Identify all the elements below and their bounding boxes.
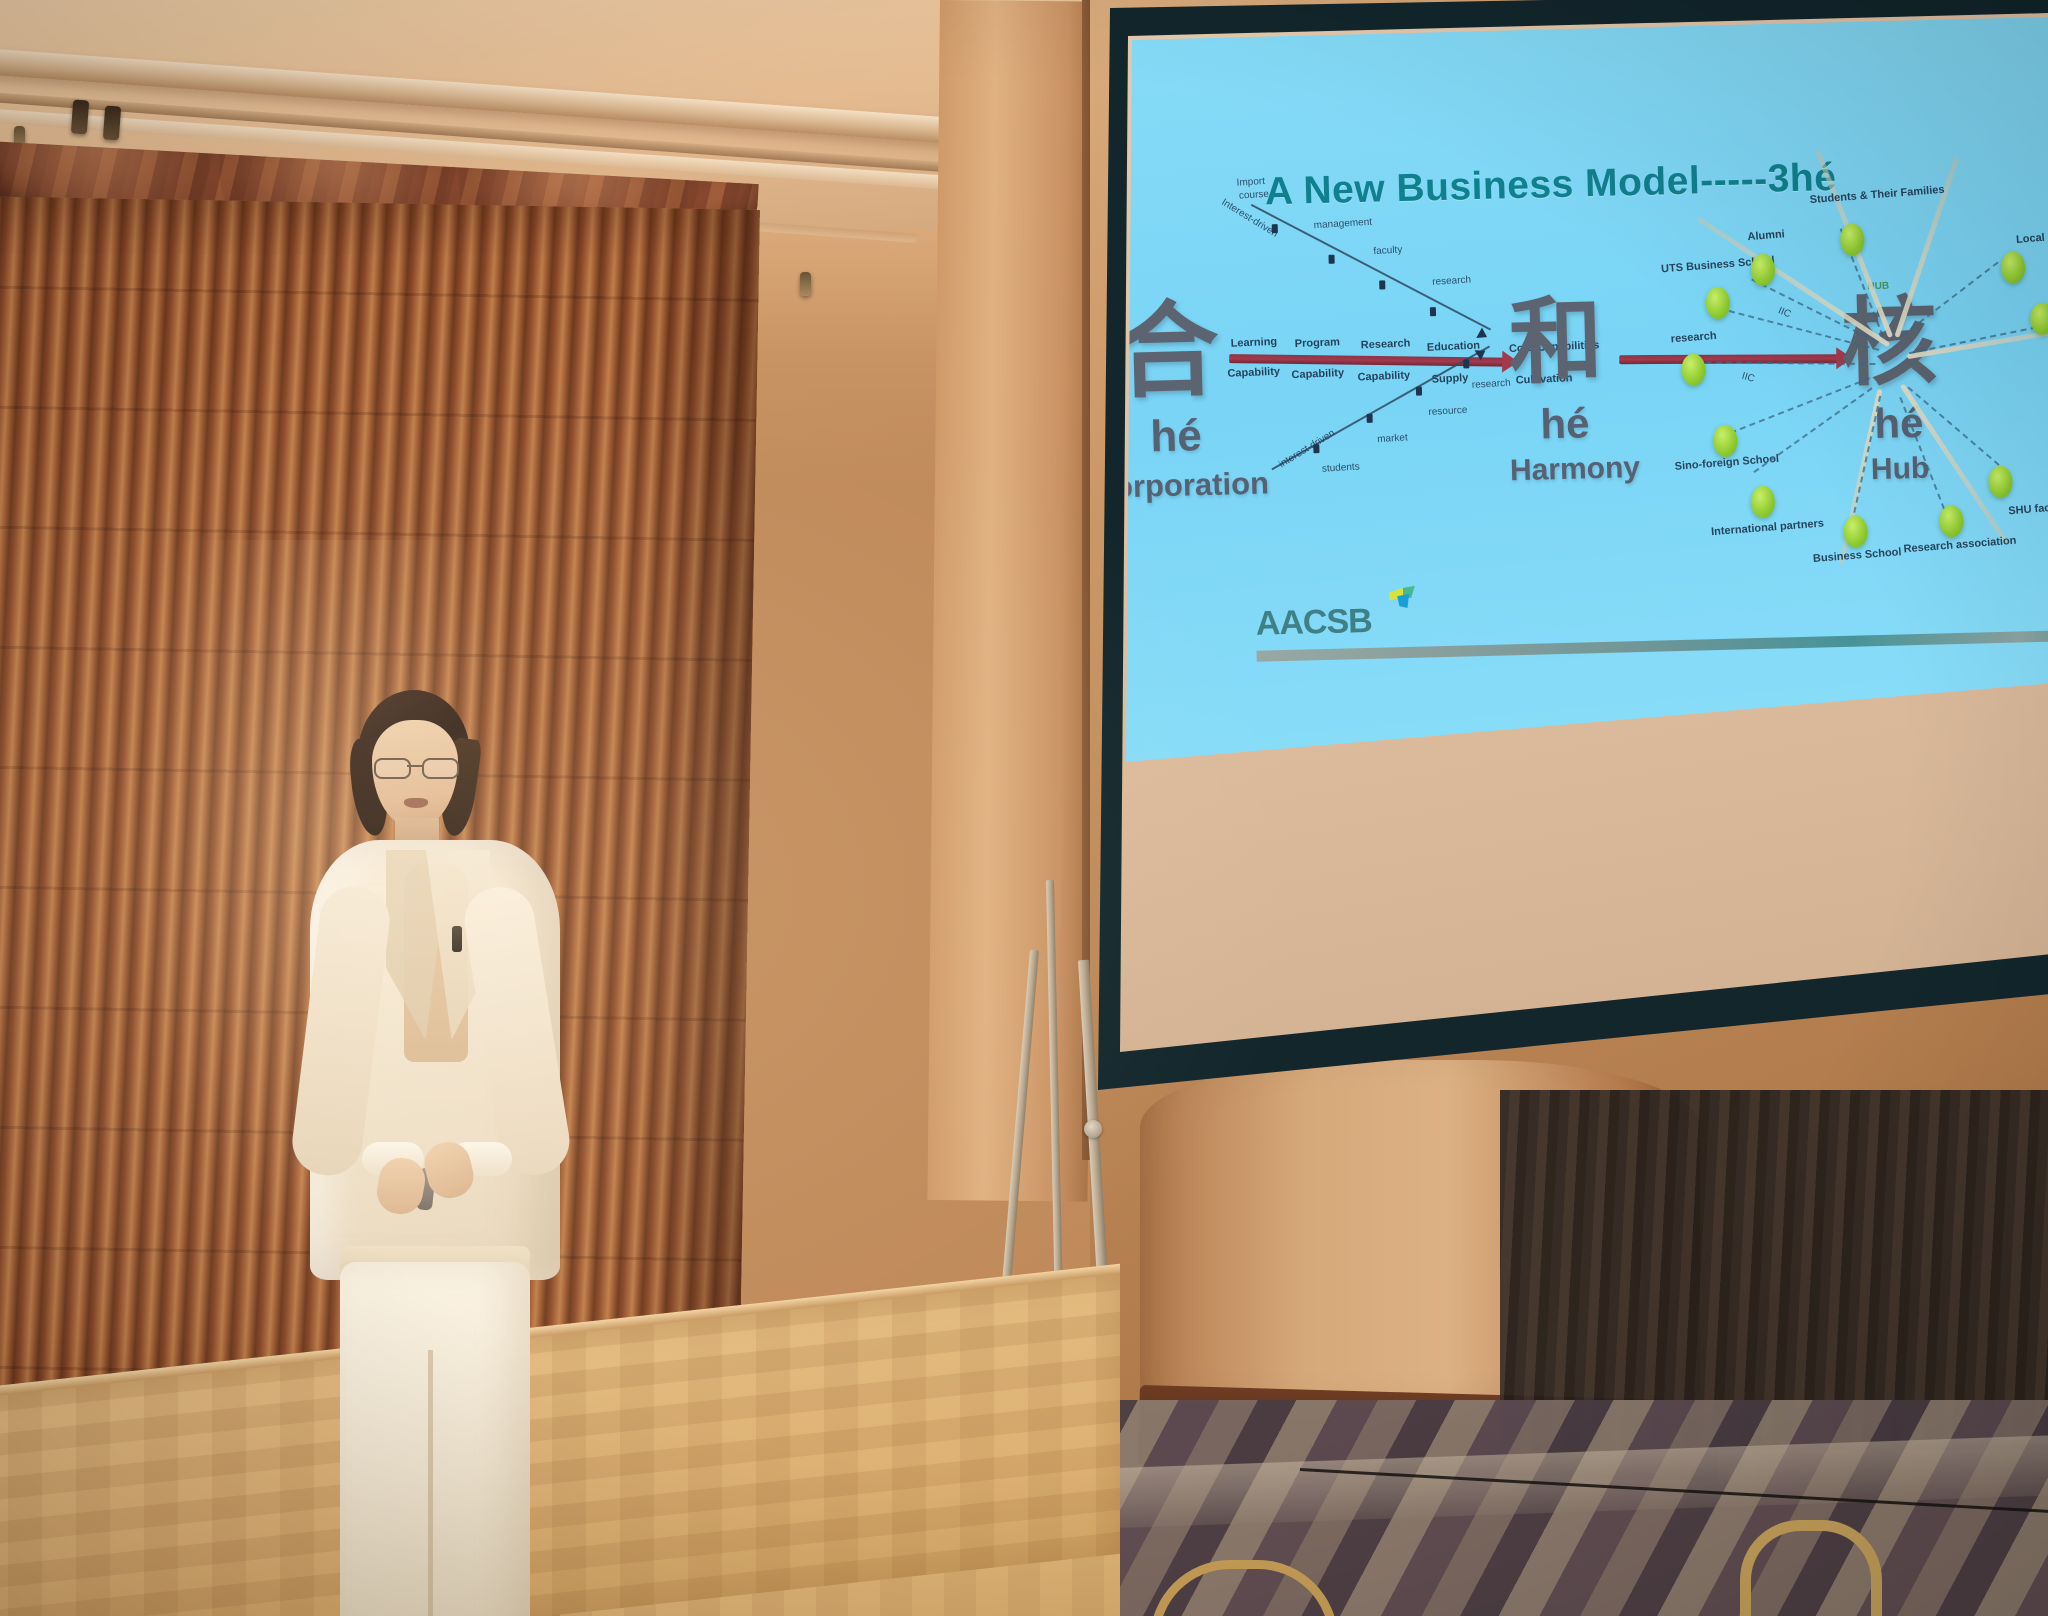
hub-label-iic: IIC [1776, 305, 1792, 320]
dark-drape [1500, 1090, 2048, 1450]
aacsb-brand: AACSB [1255, 602, 1372, 644]
projection-screen: A New Business Model-----3hé 合 hé Corpor… [1080, 0, 2048, 1120]
hub-label: research [1656, 329, 1731, 347]
hub-node [1750, 486, 1775, 519]
label-corporation: Corporation [1070, 466, 1291, 506]
aacsb-flag-icon [1387, 586, 1418, 617]
presenter-mouth [404, 798, 428, 808]
spotlight-icon [103, 105, 121, 140]
hub-label-iic: IIC [1740, 371, 1755, 385]
tripod-joint [1084, 1120, 1102, 1138]
wall-pillar [927, 0, 1100, 1202]
spine-label: Learning [1230, 336, 1277, 350]
hub-node [2030, 302, 2048, 335]
hanzi-he-harmony: 和 [1508, 295, 1604, 391]
hub-label: Research association [1902, 534, 2019, 556]
fishbone-label: management [1313, 217, 1372, 231]
spine-label: Program [1294, 336, 1340, 350]
fishbone-node [1416, 387, 1422, 396]
fishbone-node [1463, 359, 1469, 368]
fishbone-label: research [1472, 378, 1511, 391]
fishbone-label: course [1239, 189, 1270, 202]
spine-label: Research [1361, 337, 1411, 351]
hub-node [1681, 353, 1706, 386]
spine-label: Capability [1291, 367, 1344, 381]
fishbone-node [1379, 280, 1385, 289]
pinyin-he-hub: hé [1848, 399, 1949, 448]
fishbone-node [1328, 255, 1334, 264]
fishbone-node [1430, 307, 1436, 316]
hub-node [1705, 287, 1730, 320]
fishbone-node [1367, 414, 1373, 423]
lapel-microphone-icon [452, 926, 462, 952]
spine-label: Capability [1227, 366, 1280, 380]
hub-label: SHU faculty [1993, 499, 2048, 519]
hub-node [1751, 254, 1776, 287]
fishbone-label: Import [1236, 176, 1265, 189]
hub-node [1939, 505, 1964, 538]
hub-node [1988, 466, 2013, 499]
hub-node [2001, 251, 2026, 284]
hub-node [1713, 425, 1738, 458]
hub-spoke [1695, 361, 1875, 365]
aacsb-rule [1256, 629, 2048, 662]
hub-node [1843, 515, 1868, 548]
aacsb-wordmark: AACSB [1255, 602, 1372, 644]
presenter [300, 690, 570, 1616]
hub-label: Alumni [1726, 227, 1807, 246]
trouser-seam [428, 1350, 433, 1616]
slide-title: A New Business Model-----3hé [1264, 156, 1837, 214]
label-harmony: Harmony [1480, 450, 1671, 488]
fishbone-label: research [1432, 275, 1471, 288]
fishbone-label: market [1377, 432, 1408, 445]
chair-back [1740, 1520, 1882, 1616]
pinyin-he-corporation: hé [1120, 411, 1231, 462]
fishbone-label: students [1322, 461, 1360, 474]
spotlight-icon [800, 272, 811, 296]
hub-label: Local Government [2014, 226, 2048, 246]
pinyin-he-harmony: hé [1512, 400, 1617, 449]
fishbone-label: faculty [1373, 244, 1403, 257]
presenter-trousers [340, 1262, 530, 1616]
spine-label: Capability [1357, 369, 1410, 383]
spine-label: Education [1427, 340, 1481, 354]
spotlight-icon [71, 99, 89, 134]
hub-label: International partners [1707, 517, 1828, 539]
hub-label: Business School [1802, 545, 1913, 566]
photo-scene: A New Business Model-----3hé 合 hé Corpor… [0, 0, 2048, 1616]
fishbone-label: resource [1428, 405, 1467, 418]
hub-node [1840, 223, 1865, 256]
eyeglasses-icon [374, 758, 458, 775]
